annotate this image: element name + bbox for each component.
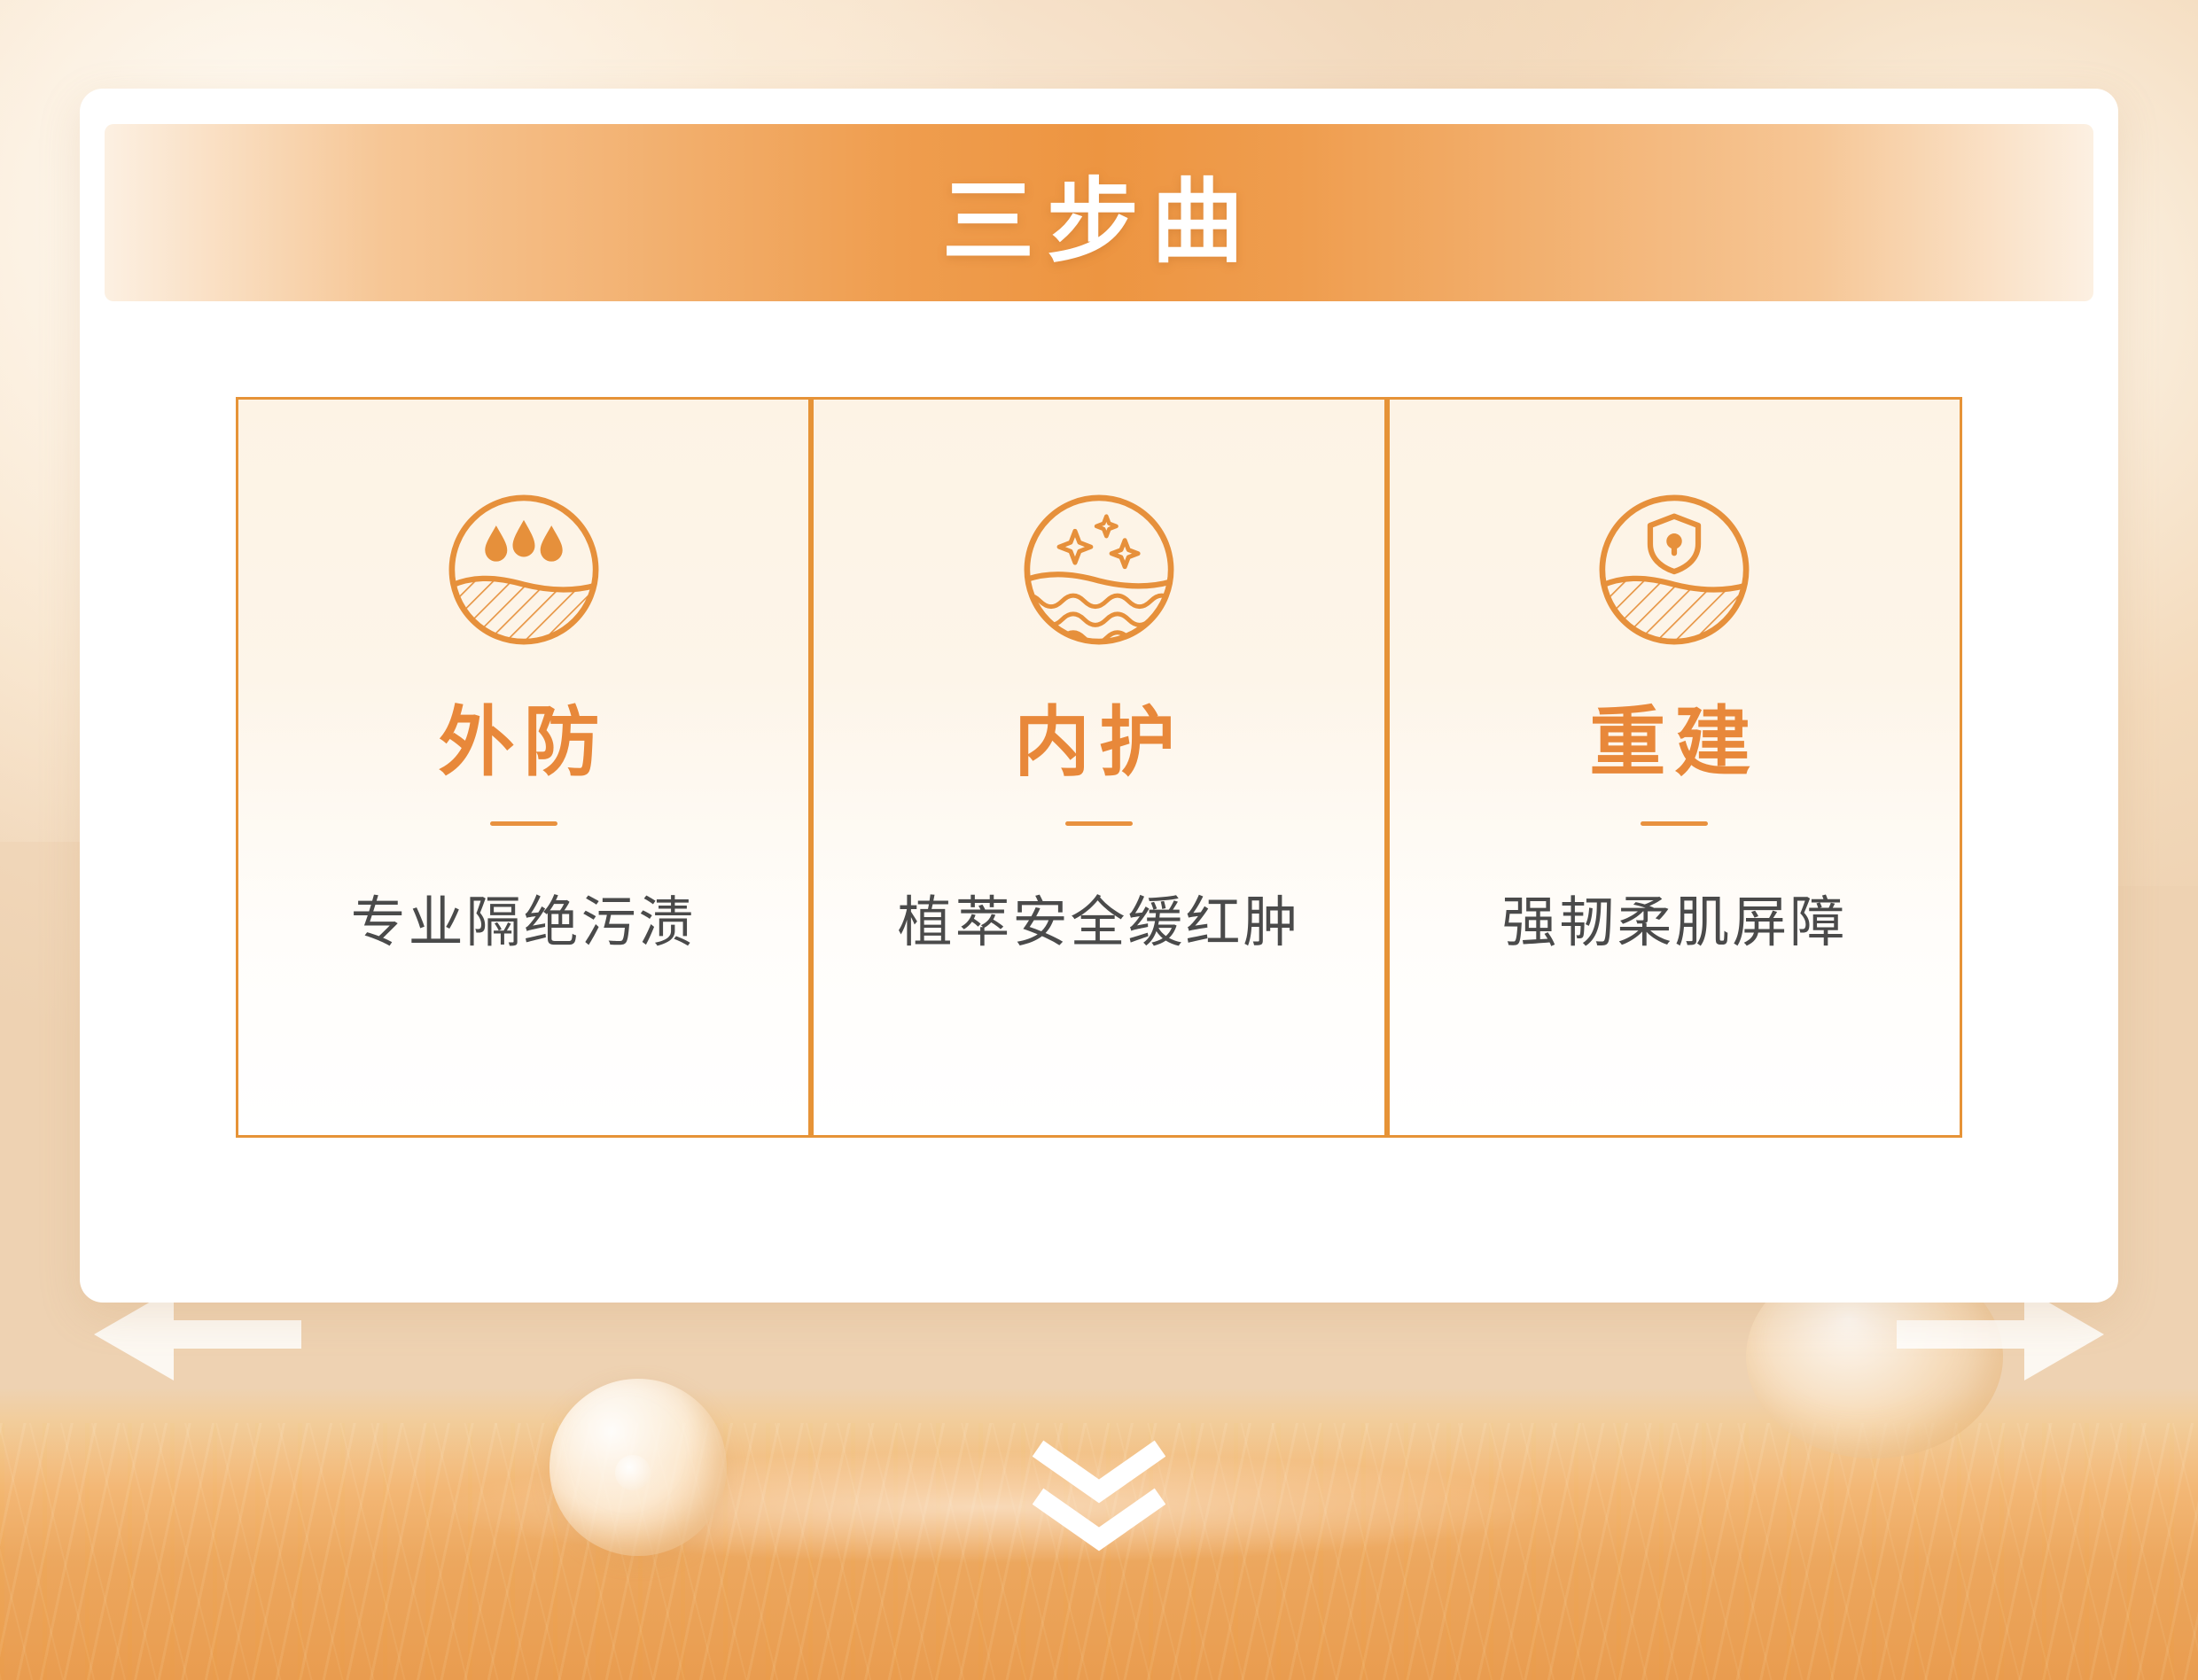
page-title: 三步曲	[942, 146, 1256, 280]
feature-tile-inner-care[interactable]: 内护 植萃安全缓红肿	[811, 397, 1386, 1138]
feature-tile-outer-defense[interactable]: 外防 专业隔绝污渍	[236, 397, 811, 1138]
feature-description: 专业隔绝污渍	[351, 877, 697, 957]
card-header-banner: 三步曲	[105, 124, 2093, 301]
feature-description: 强韧柔肌屏障	[1501, 877, 1847, 957]
feature-tile-rebuild[interactable]: 重建 强韧柔肌屏障	[1387, 397, 1962, 1138]
droplet-large	[549, 1379, 727, 1556]
droplet-shield-icon	[432, 478, 616, 662]
three-step-card: 三步曲	[80, 89, 2118, 1303]
feature-title: 内护	[1014, 704, 1184, 781]
liquid-shine	[0, 1441, 2198, 1574]
feature-list: 外防 专业隔绝污渍	[236, 397, 1962, 1138]
feature-divider	[1641, 821, 1708, 826]
sparkle-skin-icon	[1007, 478, 1191, 662]
feature-description: 植萃安全缓红肿	[897, 877, 1300, 957]
promo-page: 三步曲	[0, 0, 2198, 1680]
chevron-double-down-icon[interactable]	[1033, 1436, 1165, 1560]
feature-divider	[1065, 821, 1133, 826]
feature-divider	[490, 821, 557, 826]
feature-title: 外防	[439, 704, 609, 781]
feature-title: 重建	[1589, 704, 1759, 781]
shield-barrier-icon	[1582, 478, 1766, 662]
liquid-band	[0, 1388, 2198, 1680]
